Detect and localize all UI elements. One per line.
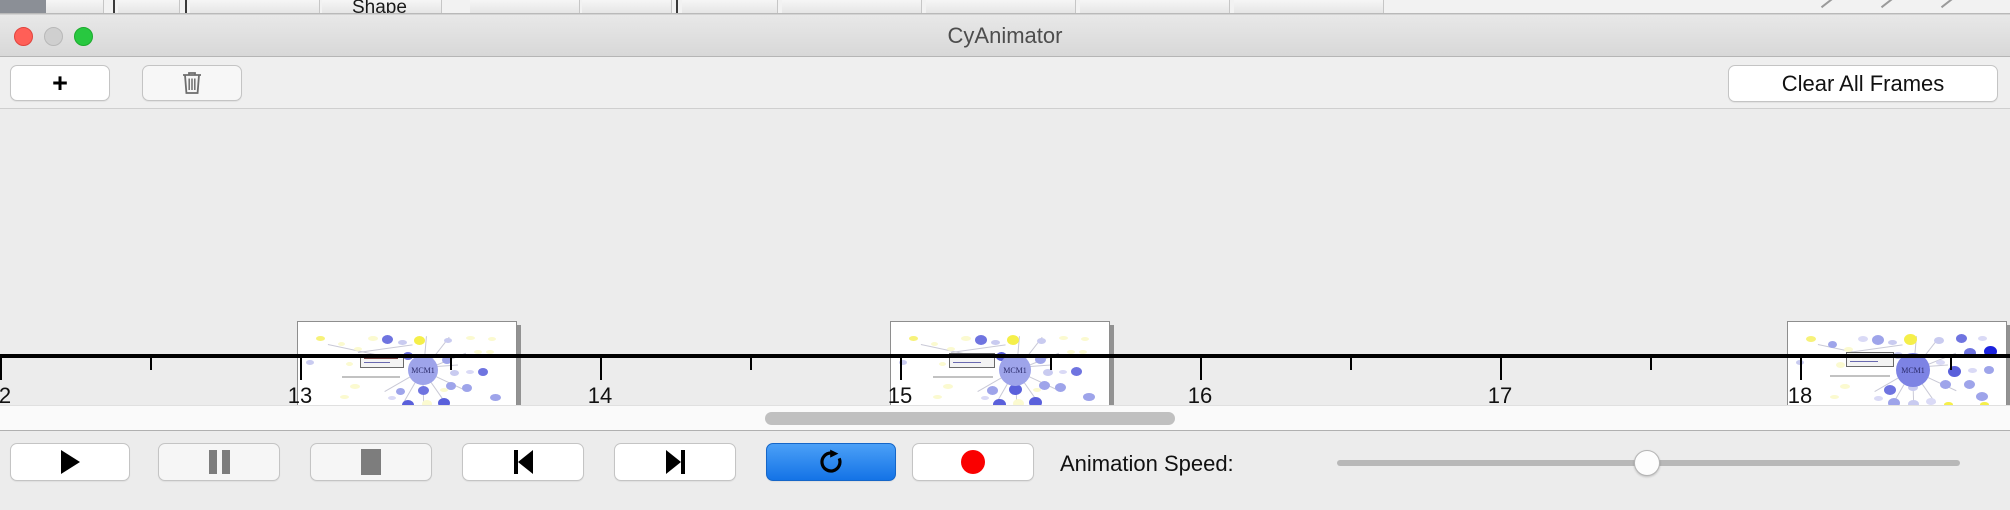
cyanimator-window: CyAnimator + Clear All Frames [0,14,2010,510]
clear-all-frames-label: Clear All Frames [1782,71,1945,97]
record-icon [961,450,985,474]
axis-tick-major [1500,358,1502,380]
axis-tick-major [300,358,302,380]
plus-icon: + [52,70,68,97]
loop-icon [818,449,844,475]
axis-tick-label: 18 [1788,383,1812,405]
scrollbar-thumb[interactable] [765,412,1175,425]
add-frame-button[interactable]: + [10,65,110,101]
network-hub-node: MCM1 [999,354,1031,386]
stop-icon [361,449,381,475]
axis-tick-label: 16 [1188,383,1212,405]
network-hub-node: MCM1 [1896,353,1930,387]
axis-tick-major [1200,358,1202,380]
record-button[interactable] [912,443,1034,481]
axis-tick-label: 13 [288,383,312,405]
timeline-panel[interactable]: MCM1 [0,109,2010,405]
skip-back-icon [514,450,533,474]
axis-tick-minor [1950,358,1952,370]
axis-tick-minor [1050,358,1052,370]
axis-tick-minor [450,358,452,370]
timeline-frame-thumbnail[interactable]: MCM1 [297,321,517,405]
pause-button[interactable] [158,443,280,481]
skip-to-end-button[interactable] [614,443,736,481]
window-title: CyAnimator [0,23,2010,49]
axis-tick-major [0,358,2,380]
trash-icon [181,70,203,96]
playback-control-bar: Animation Speed: [0,431,2010,493]
axis-tick-minor [150,358,152,370]
timeline-horizontal-scrollbar[interactable] [0,405,2010,431]
animation-speed-slider-thumb[interactable] [1634,450,1660,476]
play-button[interactable] [10,443,130,481]
clear-all-frames-button[interactable]: Clear All Frames [1728,65,1998,102]
animation-speed-label: Animation Speed: [1060,451,1234,477]
network-hub-node: MCM1 [408,355,438,385]
axis-tick-major [600,358,602,380]
axis-tick-minor [1350,358,1352,370]
pause-icon [209,450,230,474]
axis-tick-minor [750,358,752,370]
axis-tick-label: 15 [888,383,912,405]
axis-tick-major [1800,358,1802,380]
title-bar: CyAnimator [0,15,2010,57]
background-window-label: Shape [352,0,407,14]
axis-tick-major [900,358,902,380]
axis-tick-label: 2 [0,383,11,405]
axis-tick-minor [1650,358,1652,370]
loop-button[interactable] [766,443,896,481]
axis-tick-label: 17 [1488,383,1512,405]
play-icon [61,450,80,474]
axis-tick-label: 14 [588,383,612,405]
delete-frame-button[interactable] [142,65,242,101]
timeline-frame-thumbnail[interactable]: MCM1 [890,321,1110,405]
background-window-strip: Shape [0,0,2010,14]
skip-forward-icon [666,450,685,474]
stop-button[interactable] [310,443,432,481]
skip-to-start-button[interactable] [462,443,584,481]
timeline-frame-thumbnail[interactable]: MCM1 [1787,321,2007,405]
toolbar: + Clear All Frames [0,57,2010,109]
